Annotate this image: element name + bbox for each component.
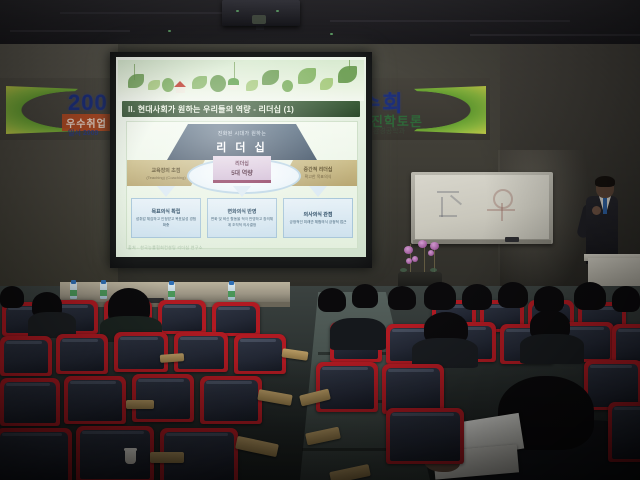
audience-torso	[330, 318, 386, 350]
banner-right: 수회 공진학토론 학교 환경공학과	[352, 78, 490, 140]
orchid-flower	[406, 258, 412, 264]
box-desc: 긍정적인 미래관 체험의식 긍정적 접근	[290, 220, 347, 225]
swoosh-logo-icon	[414, 86, 486, 134]
slide-core-box: 리더십 5대 역량	[213, 156, 271, 183]
audience-head	[612, 286, 640, 312]
arrow-down-icon	[157, 186, 175, 197]
audience-head	[0, 286, 24, 308]
audience-head	[424, 282, 456, 310]
paper-cup	[125, 450, 136, 464]
slide-box-2: 변화의식 반영 변화 및 혁신 활동을 적극 반영하고 창의체계 조직적 의사결…	[207, 198, 277, 238]
audience-head	[534, 286, 564, 312]
banner-left: 200 우수취업 일시 2009	[0, 78, 118, 140]
seat	[114, 332, 168, 372]
slide-header-heading: 리 더 십	[216, 139, 267, 155]
seat	[0, 378, 60, 426]
side-label-title: 중간적 리더십	[304, 166, 333, 173]
slide-body-panel: 진화된 시대가 원하는 리 더 십 교육장의 초점 (Teaching) (Co…	[126, 121, 358, 249]
ceiling-indicator-led-icon	[330, 33, 333, 35]
ceiling-indicator-led-icon	[168, 30, 171, 32]
presenter-tie	[603, 198, 607, 214]
seat	[612, 324, 640, 364]
ceiling-projector	[222, 0, 300, 26]
armrest	[150, 452, 184, 463]
slide-header-eyebrow: 진화된 시대가 원하는	[218, 130, 267, 137]
slide-footer: 출처 : 한국능률협회컨설팅 리더십 연구소	[128, 245, 203, 251]
seat	[0, 428, 72, 480]
audience-head	[498, 282, 528, 308]
ceiling-beam	[470, 34, 640, 36]
side-label-sub: 확고한 목표의식	[305, 174, 332, 180]
armrest	[126, 400, 154, 409]
seat	[386, 408, 464, 464]
slide-title-bar: II. 현대사회가 원하는 우리들의 역량 - 리더십 (1)	[122, 101, 360, 117]
slide-decor-band	[118, 60, 364, 101]
audience-head	[318, 288, 346, 312]
box-title: 변화의식 반영	[228, 208, 257, 215]
orchid-flower	[430, 242, 439, 250]
box-title: 목표의식 확립	[152, 208, 181, 215]
orchid-flower	[412, 256, 418, 262]
arrow-down-icon	[233, 186, 251, 197]
side-label-title: 교육장의 초점	[152, 167, 181, 174]
ceiling-beam	[330, 20, 570, 22]
box-desc: 변화 및 혁신 활동을 적극 반영하고 창의체계 조직적 의사결정	[210, 217, 274, 228]
projector-led-icon	[276, 10, 279, 12]
whiteboard	[415, 175, 549, 239]
seat	[0, 336, 52, 376]
seat	[234, 334, 286, 374]
audience-head	[352, 284, 378, 308]
audience-head	[388, 286, 416, 310]
banner-subtitle: 일시 2009	[68, 128, 98, 138]
slide-box-1: 목표의식 확립 성취감 체감하고 인정받고 목표달성 경험 확충	[131, 198, 201, 238]
orchid-flower	[404, 246, 413, 254]
presentation-slide: II. 현대사회가 원하는 우리들의 역량 - 리더십 (1) 진화된 시대가 …	[116, 57, 366, 257]
audience-head	[462, 284, 492, 310]
seat	[316, 362, 378, 412]
presenter-hand	[592, 206, 601, 215]
seat	[382, 364, 444, 414]
core-line2: 5대 역량	[231, 168, 253, 177]
core-line1: 리더십	[235, 160, 249, 167]
ceiling-beam	[10, 30, 130, 32]
orchid-flower	[418, 240, 427, 248]
audience-head	[574, 282, 606, 310]
seat	[174, 332, 228, 372]
projector-led-icon	[236, 10, 239, 12]
whiteboard-eraser	[505, 237, 519, 242]
projector-lens	[252, 15, 266, 24]
lecture-hall-photo: 200 우수취업 일시 2009 수회 공진학토론 학교 환경공학과	[0, 0, 640, 480]
audience-torso	[520, 334, 584, 364]
seat	[132, 374, 194, 422]
seat	[158, 300, 206, 334]
side-label-sub: (Teaching) (Coaching)	[146, 175, 185, 180]
slide-title: II. 현대사회가 원하는 우리들의 역량 - 리더십 (1)	[122, 104, 294, 115]
projection-screen: II. 현대사회가 원하는 우리들의 역량 - 리더십 (1) 진화된 시대가 …	[116, 57, 366, 257]
seat	[56, 334, 108, 374]
seat	[212, 302, 260, 336]
ceiling	[0, 0, 640, 46]
seat	[64, 376, 126, 424]
banner-year: 200	[68, 90, 108, 116]
presenter-hair	[595, 176, 615, 187]
armrest	[160, 353, 184, 363]
slide-box-3: 의사의식 관점 긍정적인 미래관 체험의식 긍정적 접근	[283, 198, 353, 238]
seat	[76, 426, 154, 480]
orchid-flower	[428, 250, 434, 256]
box-desc: 성취감 체감하고 인정받고 목표달성 경험 확충	[134, 217, 198, 228]
seat	[200, 376, 262, 424]
seat	[608, 402, 640, 462]
slide-header-trapezoid: 진화된 시대가 원하는 리 더 십	[167, 124, 317, 160]
box-title: 의사의식 관점	[304, 211, 333, 218]
arrow-down-icon	[309, 186, 327, 197]
